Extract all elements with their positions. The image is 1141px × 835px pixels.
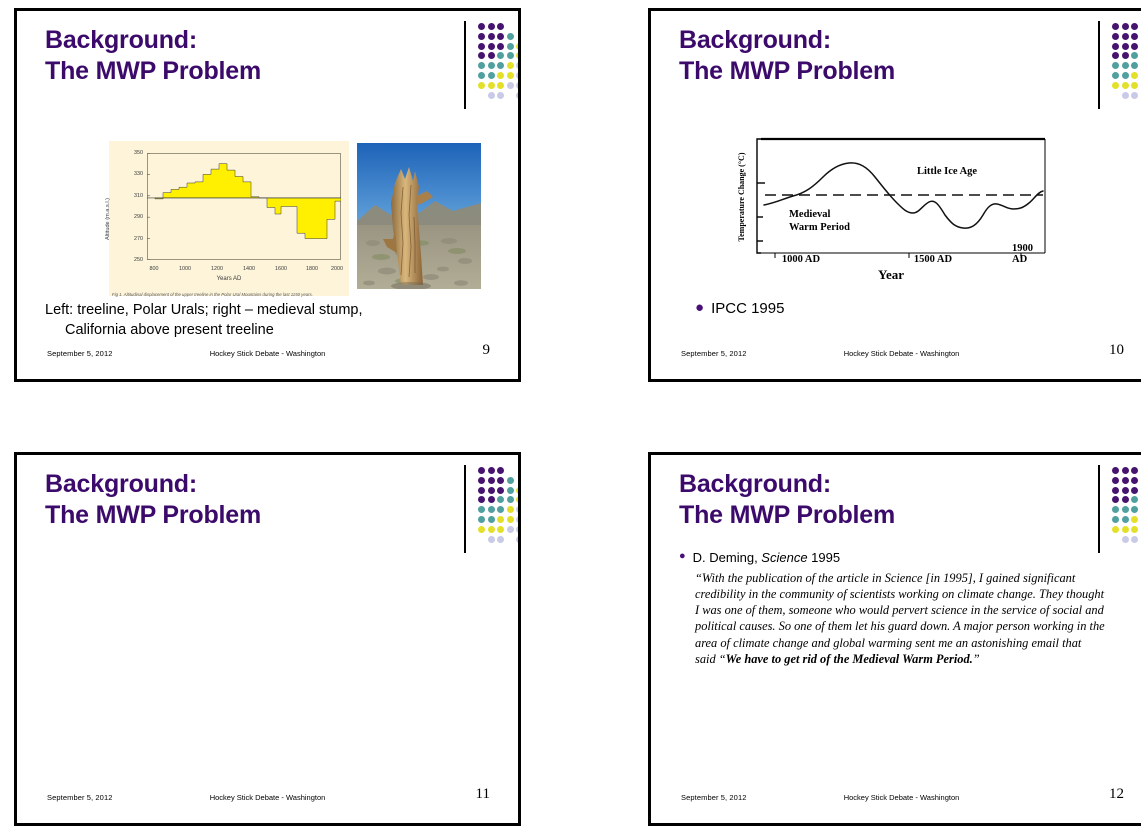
logo-dot: [507, 477, 514, 484]
logo-dot: [1112, 23, 1119, 30]
logo-dot: [1122, 82, 1129, 89]
title-line-2: The MWP Problem: [679, 56, 1009, 87]
logo-dot: [1112, 82, 1119, 89]
urals-bars-svg: [147, 153, 341, 260]
urals-xtick: 1000: [179, 266, 191, 272]
logo-dot: [488, 33, 495, 40]
logo-dot: [1122, 72, 1129, 79]
footer-title: Hockey Stick Debate - Washington: [210, 793, 326, 802]
logo-dot: [497, 526, 504, 533]
urals-x-axis-label: Years AD: [109, 276, 349, 282]
logo-dot: [1131, 82, 1138, 89]
logo-dot: [497, 72, 504, 79]
title-line-2: The MWP Problem: [679, 500, 1009, 531]
logo-dot: [488, 467, 495, 474]
slide-9-caption: Left: treeline, Polar Urals; right – med…: [45, 301, 485, 340]
title-line-1: Background:: [45, 470, 197, 498]
logo-dot: [1131, 33, 1138, 40]
logo-dot: [1131, 477, 1138, 484]
logo-dot: [488, 62, 495, 69]
logo-dot: [478, 43, 485, 50]
logo-dot: [1131, 496, 1138, 503]
logo-dot: [478, 33, 485, 40]
slide-number: 9: [483, 342, 491, 359]
logo-dot: [497, 52, 504, 59]
logo-dot: [488, 477, 495, 484]
logo-dot: [1131, 92, 1138, 99]
logo-dot: [516, 62, 521, 69]
ipcc-xtick: 1500 AD: [914, 254, 952, 265]
logo-dot: [516, 82, 521, 89]
source-suffix: 1995: [808, 550, 841, 565]
urals-ytick: 270: [125, 236, 143, 242]
logo-dot: [1122, 526, 1129, 533]
slide-footer: September 5, 2012 Hockey Stick Debate - …: [651, 347, 1141, 365]
urals-xtick: 800: [150, 266, 159, 272]
logo-dot: [516, 72, 521, 79]
logo-dot: [497, 536, 504, 543]
quote-part-2: ”: [973, 652, 980, 666]
logo-dot: [488, 496, 495, 503]
logo-dot: [1131, 43, 1138, 50]
slide-12[interactable]: Background: The MWP Problem ● D. Deming,…: [648, 452, 1141, 826]
source-journal: Science: [761, 550, 807, 565]
logo-dot: [1122, 23, 1129, 30]
header-divider-rule: [464, 465, 466, 553]
source-prefix: D. Deming,: [693, 550, 762, 565]
header-divider-rule: [1098, 465, 1100, 553]
caption-line-1: Left: treeline, Polar Urals; right – med…: [45, 302, 363, 318]
logo-dot: [516, 52, 521, 59]
medieval-stump-photo: [357, 143, 481, 289]
urals-ytick: 310: [125, 193, 143, 199]
mwp-annotation-line-1: Medieval: [789, 209, 830, 222]
logo-dot: [1112, 496, 1119, 503]
logo-dot: [1131, 62, 1138, 69]
logo-dot: [478, 62, 485, 69]
title-line-1: Background:: [679, 26, 831, 54]
urals-xtick: 1400: [243, 266, 255, 272]
logo-dot: [497, 516, 504, 523]
urals-y-axis-label: Altitude (m.a.s.l.): [105, 198, 111, 240]
slide-number: 11: [476, 786, 490, 803]
logo-dot: [488, 526, 495, 533]
logo-dot: [507, 487, 514, 494]
logo-dot: [1122, 92, 1129, 99]
logo-dot: [507, 506, 514, 513]
dot-grid-logo: [1112, 467, 1141, 549]
slide-title: Background: The MWP Problem: [45, 469, 375, 530]
logo-dot: [488, 43, 495, 50]
logo-dot: [478, 477, 485, 484]
logo-dot: [488, 23, 495, 30]
logo-dot: [507, 52, 514, 59]
ipcc-x-axis-label: Year: [731, 267, 1051, 283]
logo-dot: [1131, 506, 1138, 513]
logo-dot: [497, 506, 504, 513]
caption-line-2: California above present treeline: [45, 321, 485, 341]
logo-dot: [478, 506, 485, 513]
dot-grid-logo: [1112, 23, 1141, 105]
logo-dot: [1131, 526, 1138, 533]
slide-handout-sheet: Background: The MWP Problem Altitude (m.…: [0, 0, 1141, 835]
title-line-2: The MWP Problem: [45, 56, 375, 87]
slide-9[interactable]: Background: The MWP Problem Altitude (m.…: [14, 8, 521, 382]
header-divider-rule: [464, 21, 466, 109]
title-line-1: Background:: [679, 470, 831, 498]
ipcc-xtick: 1000 AD: [782, 254, 820, 265]
footer-date: September 5, 2012: [681, 793, 747, 802]
logo-dot: [1122, 516, 1129, 523]
logo-dot: [516, 92, 521, 99]
bullet-text: IPCC 1995: [711, 299, 784, 319]
logo-dot: [507, 516, 514, 523]
logo-dot: [1122, 487, 1129, 494]
little-ice-age-annotation: Little Ice Age: [917, 166, 977, 179]
logo-dot: [1131, 487, 1138, 494]
logo-dot: [516, 43, 521, 50]
logo-dot: [497, 92, 504, 99]
logo-dot: [1131, 72, 1138, 79]
footer-date: September 5, 2012: [681, 349, 747, 358]
logo-dot: [516, 506, 521, 513]
logo-dot: [1112, 467, 1119, 474]
slide-10-bullet: ● IPCC 1995: [695, 299, 784, 319]
logo-dot: [516, 496, 521, 503]
dot-grid-logo: [478, 23, 521, 105]
footer-date: September 5, 2012: [47, 793, 113, 802]
logo-dot: [1131, 516, 1138, 523]
urals-figure-caption: Fig 1. Altitudinal displacement of the u…: [112, 292, 346, 297]
urals-ytick: 290: [125, 214, 143, 220]
logo-dot: [507, 43, 514, 50]
slide-12-source-bullet: ● D. Deming, Science 1995: [679, 550, 840, 567]
logo-dot: [497, 62, 504, 69]
logo-dot: [1122, 43, 1129, 50]
logo-dot: [478, 496, 485, 503]
logo-dot: [516, 487, 521, 494]
logo-dot: [488, 72, 495, 79]
ipcc-1995-chart: Temperature Change (°C): [731, 131, 1051, 281]
logo-dot: [507, 496, 514, 503]
logo-dot: [497, 467, 504, 474]
logo-dot: [478, 82, 485, 89]
footer-title: Hockey Stick Debate - Washington: [210, 349, 326, 358]
logo-dot: [507, 33, 514, 40]
urals-xtick: 1200: [211, 266, 223, 272]
logo-dot: [1112, 516, 1119, 523]
logo-dot: [507, 526, 514, 533]
logo-dot: [488, 536, 495, 543]
logo-dot: [507, 72, 514, 79]
footer-title: Hockey Stick Debate - Washington: [844, 349, 960, 358]
logo-dot: [1131, 23, 1138, 30]
deming-quote: “With the publication of the article in …: [695, 570, 1105, 667]
polar-urals-chart: Altitude (m.a.s.l.) 350 330 310 290 270 …: [109, 141, 349, 296]
slide-title: Background: The MWP Problem: [679, 25, 1009, 86]
logo-dot: [1112, 506, 1119, 513]
logo-dot: [1112, 33, 1119, 40]
logo-dot: [488, 487, 495, 494]
logo-dot: [497, 487, 504, 494]
logo-dot: [497, 477, 504, 484]
slide-title: Background: The MWP Problem: [45, 25, 375, 86]
slide-title: Background: The MWP Problem: [679, 469, 1009, 530]
slide-number: 10: [1109, 342, 1124, 359]
logo-dot: [497, 33, 504, 40]
slide-number: 12: [1109, 786, 1124, 803]
logo-dot: [1112, 477, 1119, 484]
slide-11[interactable]: Background: The MWP Problem: [14, 452, 521, 826]
logo-dot: [1131, 467, 1138, 474]
footer-title: Hockey Stick Debate - Washington: [844, 793, 960, 802]
footer-date: September 5, 2012: [47, 349, 113, 358]
logo-dot: [497, 23, 504, 30]
logo-dot: [497, 496, 504, 503]
urals-ytick: 330: [125, 171, 143, 177]
logo-dot: [1112, 72, 1119, 79]
source-text: D. Deming, Science 1995: [693, 550, 840, 567]
logo-dot: [1112, 526, 1119, 533]
quote-bold-part: We have to get rid of the Medieval Warm …: [726, 652, 973, 666]
logo-dot: [1131, 536, 1138, 543]
dot-grid-logo: [478, 467, 521, 549]
logo-dot: [478, 526, 485, 533]
urals-xtick: 1600: [275, 266, 287, 272]
title-line-2: The MWP Problem: [45, 500, 375, 531]
logo-dot: [497, 82, 504, 89]
urals-ytick: 250: [125, 257, 143, 263]
logo-dot: [516, 516, 521, 523]
logo-dot: [1122, 496, 1129, 503]
logo-dot: [478, 516, 485, 523]
header-divider-rule: [1098, 21, 1100, 109]
logo-dot: [507, 62, 514, 69]
logo-dot: [507, 82, 514, 89]
logo-dot: [1122, 536, 1129, 543]
logo-dot: [1112, 62, 1119, 69]
title-line-1: Background:: [45, 26, 197, 54]
logo-dot: [488, 92, 495, 99]
logo-dot: [478, 23, 485, 30]
logo-dot: [1122, 477, 1129, 484]
bullet-dot-icon: ●: [695, 299, 704, 316]
logo-dot: [1112, 52, 1119, 59]
slide-footer: September 5, 2012 Hockey Stick Debate - …: [17, 791, 518, 809]
bullet-dot-icon: ●: [679, 550, 686, 563]
logo-dot: [1112, 487, 1119, 494]
logo-dot: [478, 52, 485, 59]
urals-xtick: 2000: [331, 266, 343, 272]
logo-dot: [488, 82, 495, 89]
urals-ytick: 350: [125, 150, 143, 156]
ipcc-curve-svg: [731, 131, 1051, 281]
logo-dot: [497, 43, 504, 50]
slide-10[interactable]: Background: The MWP Problem Temperature …: [648, 8, 1141, 382]
logo-dot: [1122, 506, 1129, 513]
logo-dot: [488, 52, 495, 59]
logo-dot: [1122, 52, 1129, 59]
slide-footer: September 5, 2012 Hockey Stick Debate - …: [17, 347, 518, 365]
slide-footer: September 5, 2012 Hockey Stick Debate - …: [651, 791, 1141, 809]
logo-dot: [478, 72, 485, 79]
logo-dot: [1122, 33, 1129, 40]
logo-dot: [1122, 62, 1129, 69]
logo-dot: [488, 506, 495, 513]
urals-xtick: 1800: [306, 266, 318, 272]
logo-dot: [478, 467, 485, 474]
logo-dot: [516, 536, 521, 543]
logo-dot: [1122, 467, 1129, 474]
logo-dot: [516, 526, 521, 533]
mwp-annotation-line-2: Warm Period: [789, 222, 850, 235]
logo-dot: [1131, 52, 1138, 59]
logo-dot: [1112, 43, 1119, 50]
ipcc-xtick: 1900 AD: [1012, 243, 1038, 265]
logo-dot: [478, 487, 485, 494]
logo-dot: [488, 516, 495, 523]
